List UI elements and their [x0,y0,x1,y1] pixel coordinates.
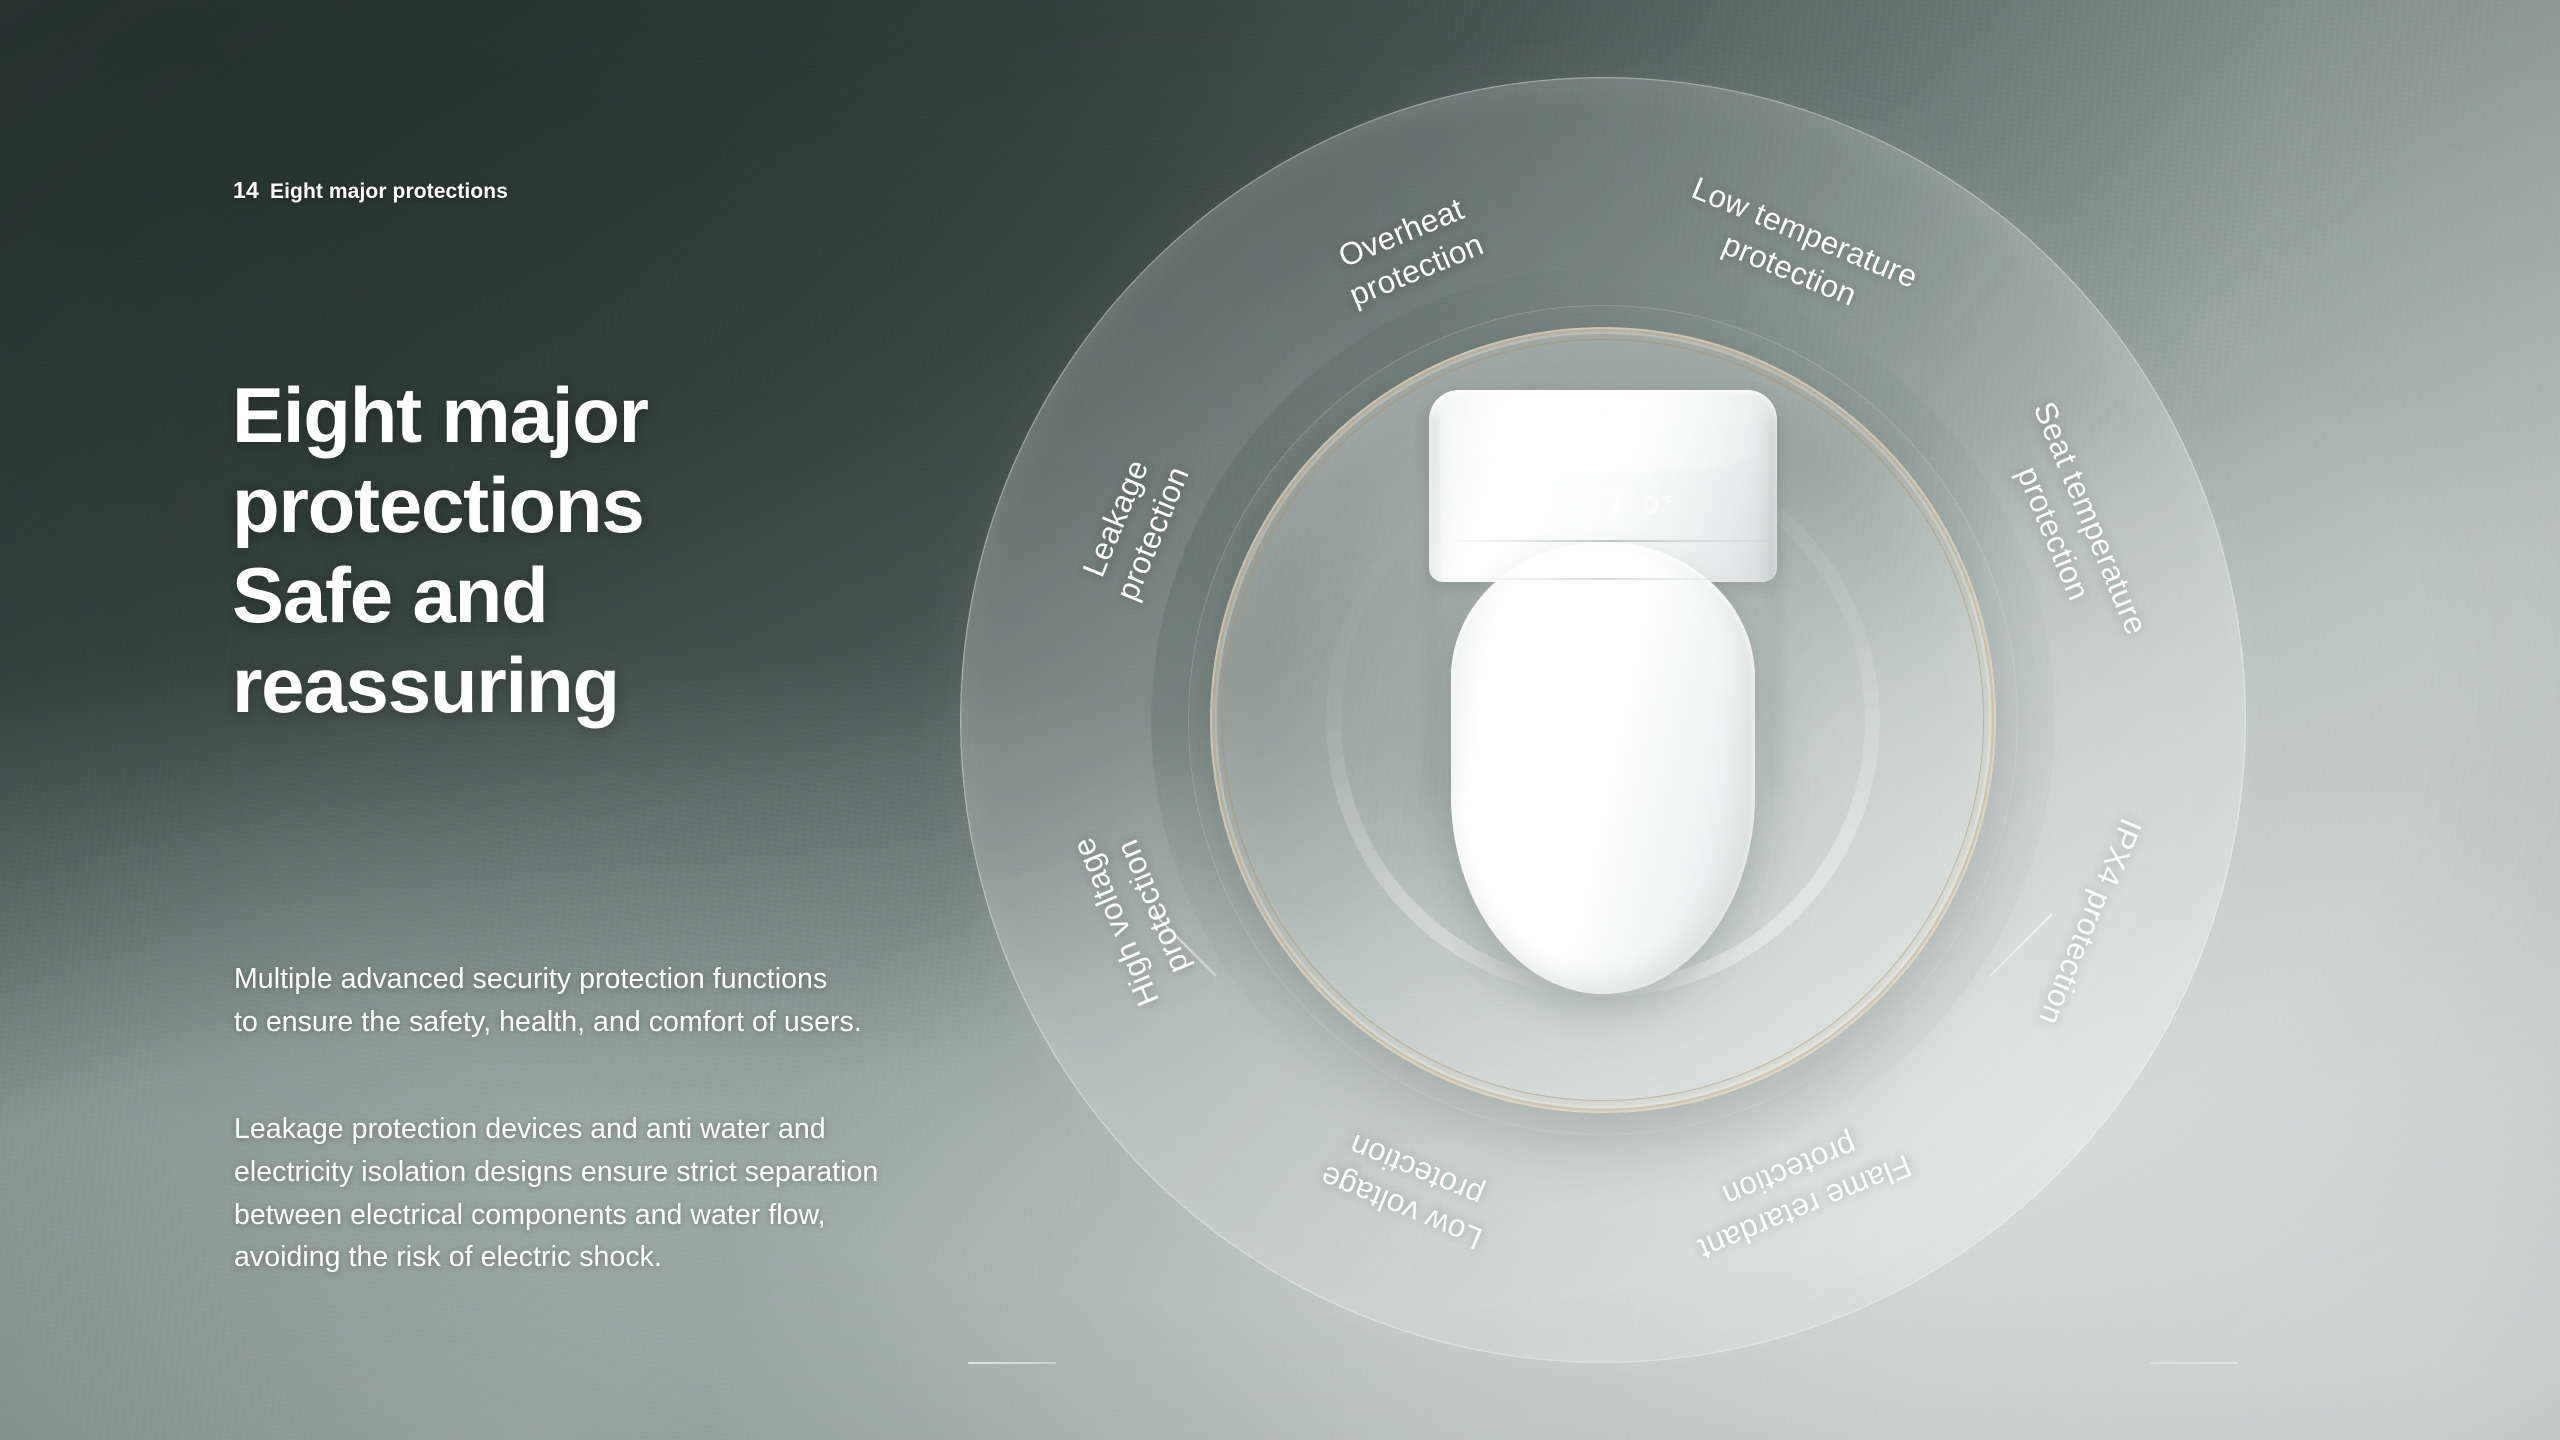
page-title-line-3: Safe and [232,550,832,640]
toilet-seat-icon: °C [1641,495,1672,514]
body-paragraph-1-line-2: to ensure the safety, health, and comfor… [234,1001,1024,1044]
protection-circle-diagram: Leakage protectionOverheat protectionLow… [960,77,2246,1363]
body-paragraph-2-line-2: electricity isolation designs ensure str… [234,1151,1024,1194]
smart-toilet-product: °C 37 °C [1417,390,1789,1008]
segment-tick [1602,1363,1604,1440]
segment-tick [1602,1362,2058,1440]
page-title-line-4: reassuring [232,640,832,730]
seat-right-shading [1763,414,1779,794]
body-paragraph-2: Leakage protection devices and anti wate… [234,1108,1024,1279]
temperature-display-panel: °C 37 °C [1534,486,1673,523]
body-paragraph-2-line-3: between electrical components and water … [234,1194,1024,1237]
page-eyebrow: 14 Eight major protections [233,177,508,204]
page-section-label: Eight major protections [270,180,508,204]
page-title-line-2: protections [232,460,832,550]
seat-left-shading [1427,414,1443,794]
water-drop-icon: °C [1534,496,1567,513]
water-unit-label: °C [1557,496,1567,505]
body-paragraph-1: Multiple advanced security protection fu… [234,958,1024,1044]
segment-tick [1148,1362,1604,1440]
page-title: Eight major protections Safe and reassur… [232,370,832,730]
seat-lid-seam [1457,578,1749,580]
seat-unit-label: °C [1662,495,1672,504]
body-paragraph-1-line-1: Multiple advanced security protection fu… [234,958,1024,1001]
page-number: 14 [233,177,259,204]
text-column: 14 Eight major protections Eight major p… [0,0,1010,1440]
seat-highlight [1475,576,1583,906]
slide-canvas: Leakage protectionOverheat protectionLow… [0,0,2560,1440]
segment-tick [960,1362,1603,1364]
body-paragraph-2-line-1: Leakage protection devices and anti wate… [234,1108,1024,1151]
temperature-value: 37 [1580,486,1629,523]
segment-tick [1603,1362,2246,1364]
body-paragraph-2-line-4: avoiding the risk of electric shock. [234,1236,1024,1279]
page-title-line-1: Eight major [232,370,832,460]
tank-highlight [1453,394,1775,472]
